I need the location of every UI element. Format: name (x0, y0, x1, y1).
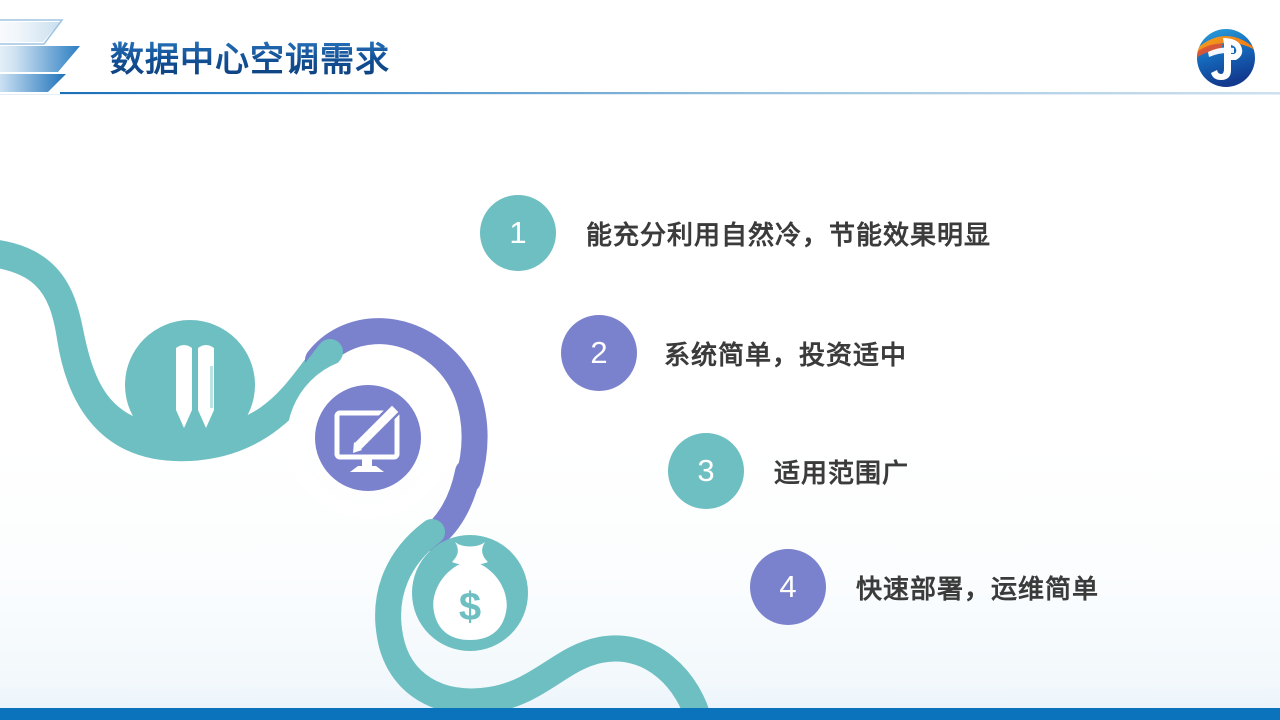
bullet-number-badge: 4 (750, 549, 826, 625)
list-item[interactable]: 4 快速部署，运维简单 (750, 549, 1099, 625)
footer-bar (0, 708, 1280, 720)
slide: 数据中心空调需求 (0, 0, 1280, 720)
art-node-monitor (315, 385, 421, 491)
bullet-number-badge: 1 (480, 195, 556, 271)
bullet-label: 快速部署，运维简单 (856, 569, 1099, 606)
page-title: 数据中心空调需求 (110, 32, 390, 81)
list-item[interactable]: 1 能充分利用自然冷，节能效果明显 (480, 195, 991, 271)
list-item[interactable]: 2 系统简单，投资适中 (561, 315, 907, 391)
bullet-number-badge: 2 (561, 315, 637, 391)
bullet-label: 能充分利用自然冷，节能效果明显 (586, 215, 991, 252)
feature-list: 1 能充分利用自然冷，节能效果明显 2 系统简单，投资适中 3 适用范围广 4 … (480, 195, 1270, 665)
svg-text:$: $ (459, 585, 481, 629)
list-item[interactable]: 3 适用范围广 (668, 433, 909, 509)
art-node-pencils (125, 320, 255, 450)
bullet-number-badge: 3 (668, 433, 744, 509)
bullet-label: 系统简单，投资适中 (664, 335, 907, 372)
company-logo (1190, 22, 1262, 94)
bullet-label: 适用范围广 (774, 453, 909, 490)
